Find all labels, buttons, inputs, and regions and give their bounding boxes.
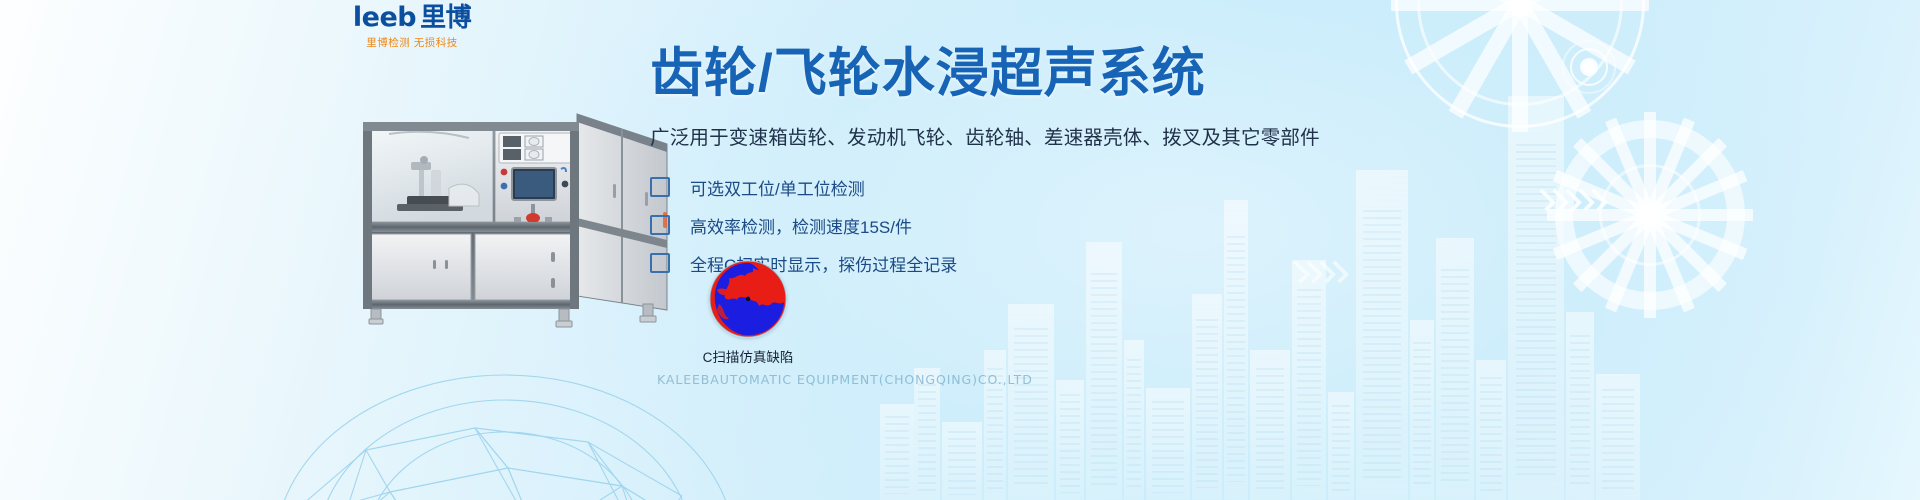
feature-item[interactable]: 高效率检测，检测速度15S/件	[650, 206, 1250, 244]
checkbox-icon[interactable]	[650, 215, 670, 235]
feature-label: 高效率检测，检测速度15S/件	[690, 213, 912, 238]
checkbox-icon[interactable]	[650, 253, 670, 273]
gear-outline-icon	[1395, 0, 1645, 128]
cscan-sample: C扫描仿真缺陷	[668, 260, 828, 366]
brand-logo[interactable]: leeb里博 里博检测 无损科技	[344, 4, 480, 50]
product-photo	[345, 100, 675, 350]
checkbox-icon[interactable]	[650, 177, 670, 197]
gear-outline-icon-secondary	[1555, 120, 1745, 310]
brand-logo-tagline: 里博检测 无损科技	[344, 35, 480, 50]
promo-banner: leeb里博 里博检测 无损科技	[0, 0, 1920, 500]
hero-content: 齿轮/飞轮水浸超声系统 广泛用于变速箱齿轮、发动机飞轮、齿轮轴、差速器壳体、拨叉…	[650, 46, 1250, 282]
feature-item[interactable]: 可选双工位/单工位检测	[650, 168, 1250, 206]
brand-logo-cn: 里博	[420, 2, 471, 32]
brand-logo-wordmark: leeb里博	[344, 4, 480, 31]
cscan-image	[709, 260, 787, 338]
brand-logo-en: leeb	[353, 2, 416, 33]
hero-subtitle: 广泛用于变速箱齿轮、发动机飞轮、齿轮轴、差速器壳体、拨叉及其它零部件	[650, 121, 1250, 150]
target-ring-icon-outer	[1562, 40, 1616, 94]
target-ring-icon	[1570, 48, 1608, 86]
page-title: 齿轮/飞轮水浸超声系统	[650, 46, 1250, 101]
feature-label: 可选双工位/单工位检测	[690, 175, 865, 200]
cscan-caption: C扫描仿真缺陷	[668, 346, 828, 366]
company-name-en: KALEEBAUTOMATIC EQUIPMENT(CHONGQING)CO.,…	[657, 372, 1033, 387]
